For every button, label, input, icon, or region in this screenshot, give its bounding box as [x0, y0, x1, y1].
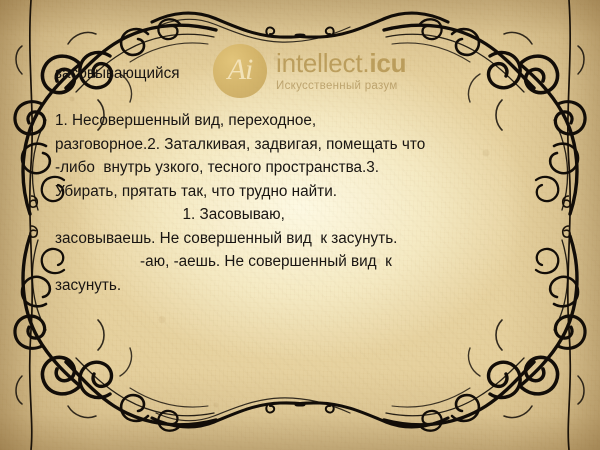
definition-line-2: разговорное.2. Заталкивая, задвигая, пом…	[55, 133, 543, 157]
definition-line-8: засунуть.	[55, 274, 543, 298]
definition-line-5: 1. Засовываю,	[55, 203, 543, 227]
headword: засовывающийся	[55, 62, 543, 86]
definition-line-7: -аю, -аешь. Не совершенный вид к	[55, 250, 543, 274]
definition-line-4: Убирать, прятать так, что трудно найти.	[55, 180, 543, 204]
left-edge-rule-ornament	[18, 0, 44, 450]
dictionary-article: засовывающийся 1. Несовершенный вид, пер…	[55, 62, 543, 297]
definition-line-3: -либо внутрь узкого, тесного пространств…	[55, 156, 543, 180]
definition-line-6: засовываешь. Не совершенный вид к засуну…	[55, 227, 543, 251]
right-edge-rule-ornament	[556, 0, 582, 450]
definition-line-1: 1. Несовершенный вид, переходное,	[55, 109, 543, 133]
parchment-page: Ai intellect.icu Искусственный разум зас…	[0, 0, 600, 450]
